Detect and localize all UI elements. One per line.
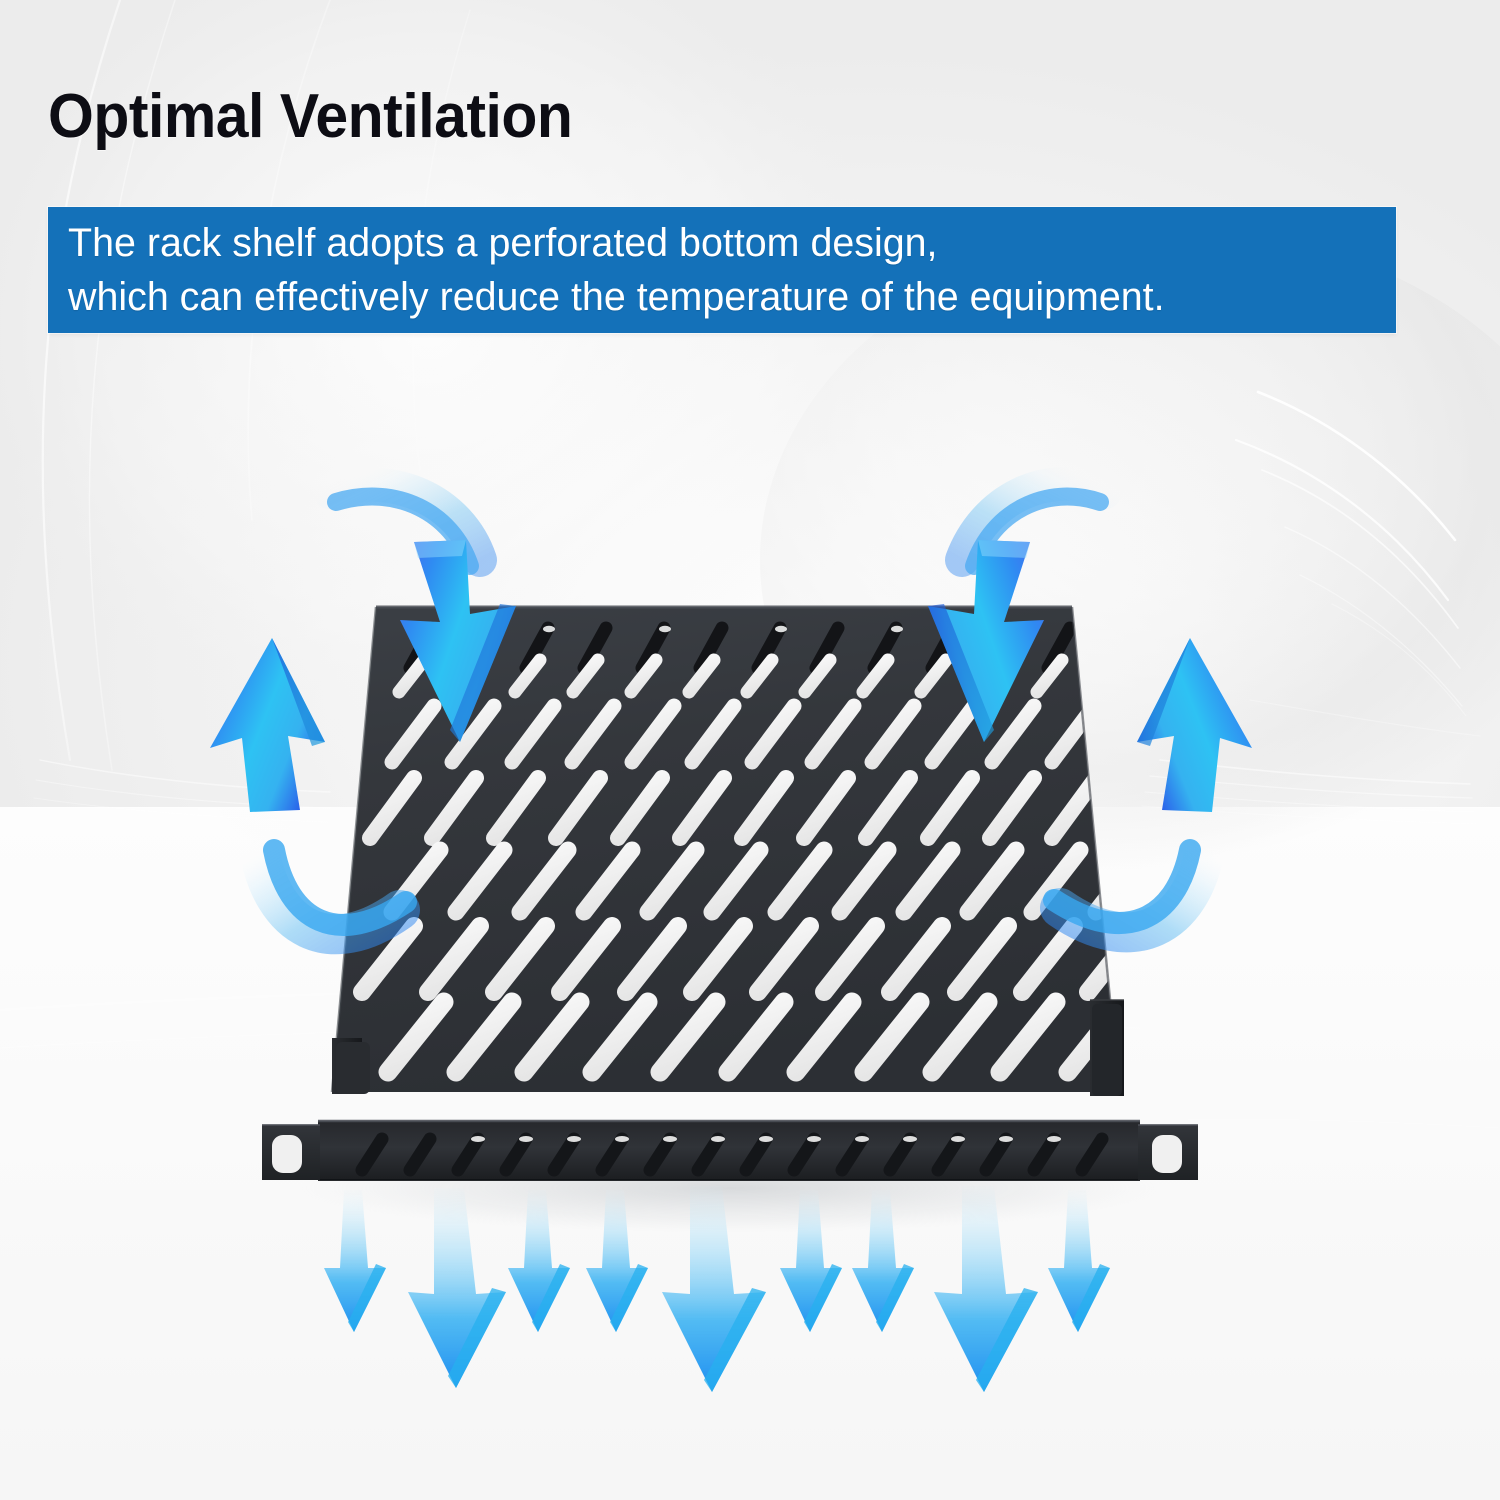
- airflow-down-arrow: [662, 1186, 766, 1392]
- airflow-arrows: [0, 0, 1500, 1500]
- product-marketing-image: Optimal Ventilation The rack shelf adopt…: [0, 0, 1500, 1500]
- airflow-down-arrow: [780, 1190, 842, 1332]
- airflow-down-arrow: [324, 1190, 386, 1332]
- airflow-down-arrow: [586, 1190, 648, 1332]
- airflow-down-arrow: [408, 1188, 506, 1388]
- airflow-down-arrow: [934, 1186, 1038, 1392]
- airflow-down-arrow: [1048, 1190, 1110, 1332]
- airflow-down-arrow: [508, 1190, 570, 1332]
- airflow-down-arrow-group: [324, 1186, 1110, 1392]
- airflow-exhaust-arrow-left: [210, 638, 406, 934]
- airflow-intake-arrow-left: [330, 485, 516, 742]
- airflow-exhaust-arrow-right: [1054, 638, 1252, 932]
- airflow-down-arrow: [852, 1190, 914, 1332]
- airflow-intake-arrow-right: [928, 484, 1105, 742]
